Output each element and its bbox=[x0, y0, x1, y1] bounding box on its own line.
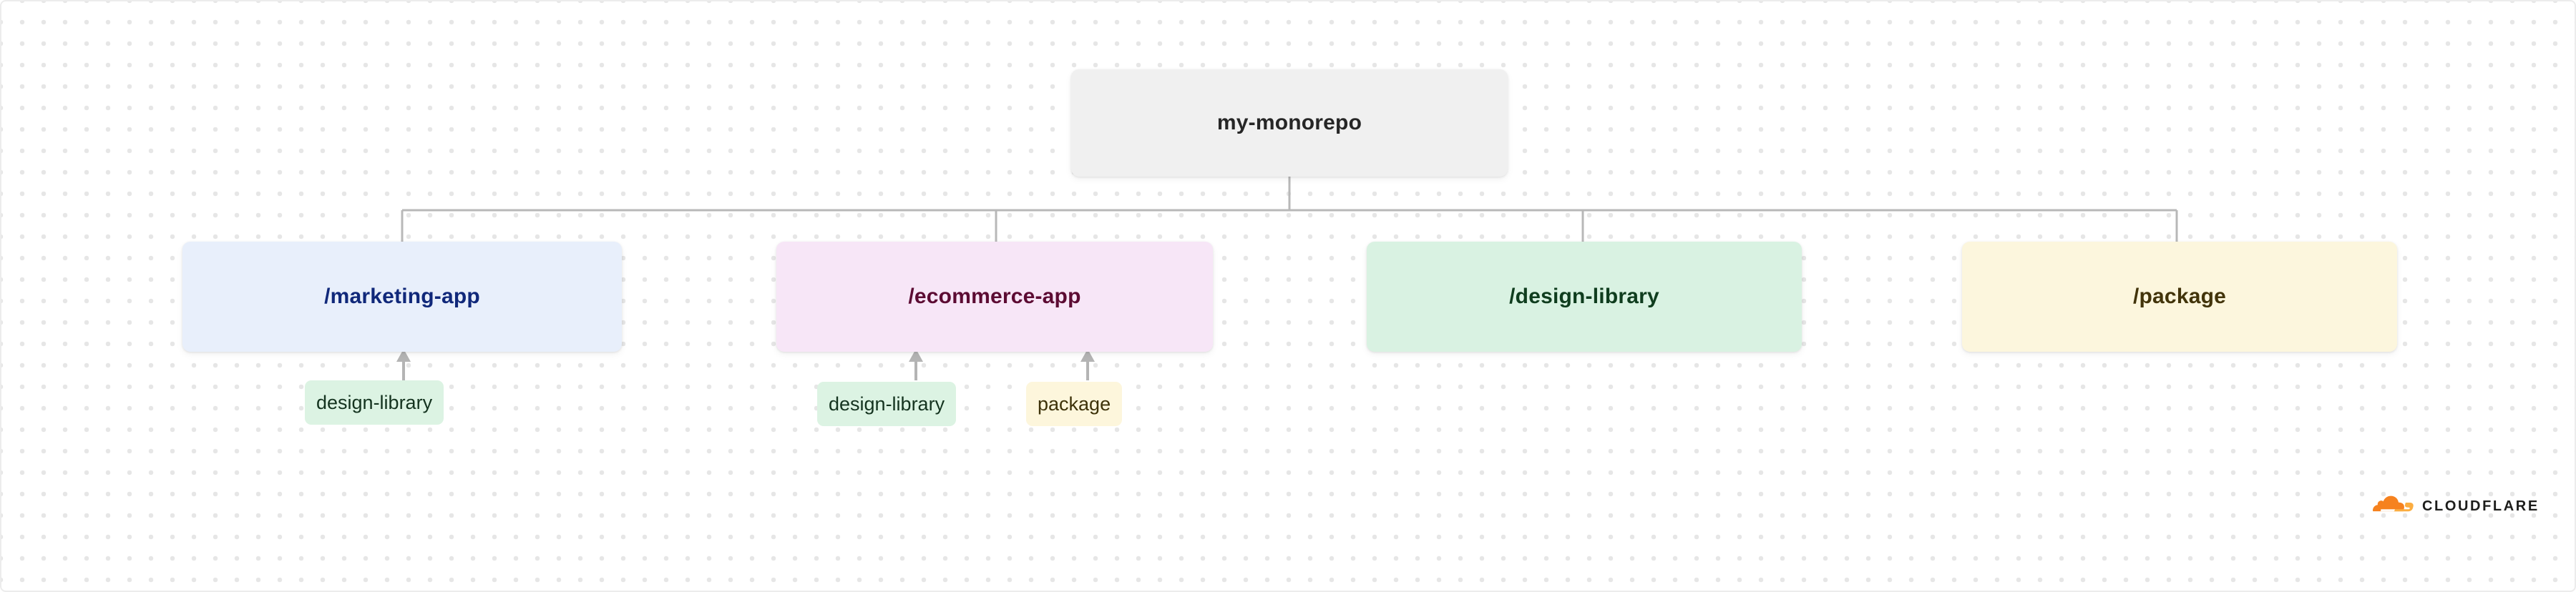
dependency-tag-label: design-library bbox=[316, 393, 432, 413]
node-label-design-library: /design-library bbox=[1509, 285, 1659, 309]
node-label-my-monorepo: my-monorepo bbox=[1217, 111, 1362, 135]
node-label-marketing-app: /marketing-app bbox=[324, 285, 480, 309]
node-ecommerce-app[interactable]: /ecommerce-app bbox=[776, 242, 1213, 352]
node-label-ecommerce-app: /ecommerce-app bbox=[908, 285, 1080, 309]
diagram-canvas[interactable]: my-monorepo /marketing-app /ecommerce-ap… bbox=[0, 0, 2576, 592]
dependency-tag-label: package bbox=[1038, 395, 1111, 414]
node-label-package: /package bbox=[2133, 285, 2226, 309]
dependency-tag-marketing-design-library[interactable]: design-library bbox=[305, 380, 444, 425]
dependency-tag-ecommerce-design-library[interactable]: design-library bbox=[817, 382, 956, 426]
dependency-tag-label: design-library bbox=[829, 395, 945, 414]
node-my-monorepo[interactable]: my-monorepo bbox=[1071, 69, 1508, 177]
cloudflare-logo: CLOUDFLARE bbox=[2370, 495, 2540, 518]
cloudflare-wordmark: CLOUDFLARE bbox=[2422, 499, 2540, 513]
dependency-tag-ecommerce-package[interactable]: package bbox=[1026, 382, 1122, 426]
node-marketing-app[interactable]: /marketing-app bbox=[182, 242, 622, 352]
node-design-library[interactable]: /design-library bbox=[1367, 242, 1802, 352]
node-package[interactable]: /package bbox=[1962, 242, 2397, 352]
cloudflare-cloud-icon bbox=[2370, 495, 2414, 518]
